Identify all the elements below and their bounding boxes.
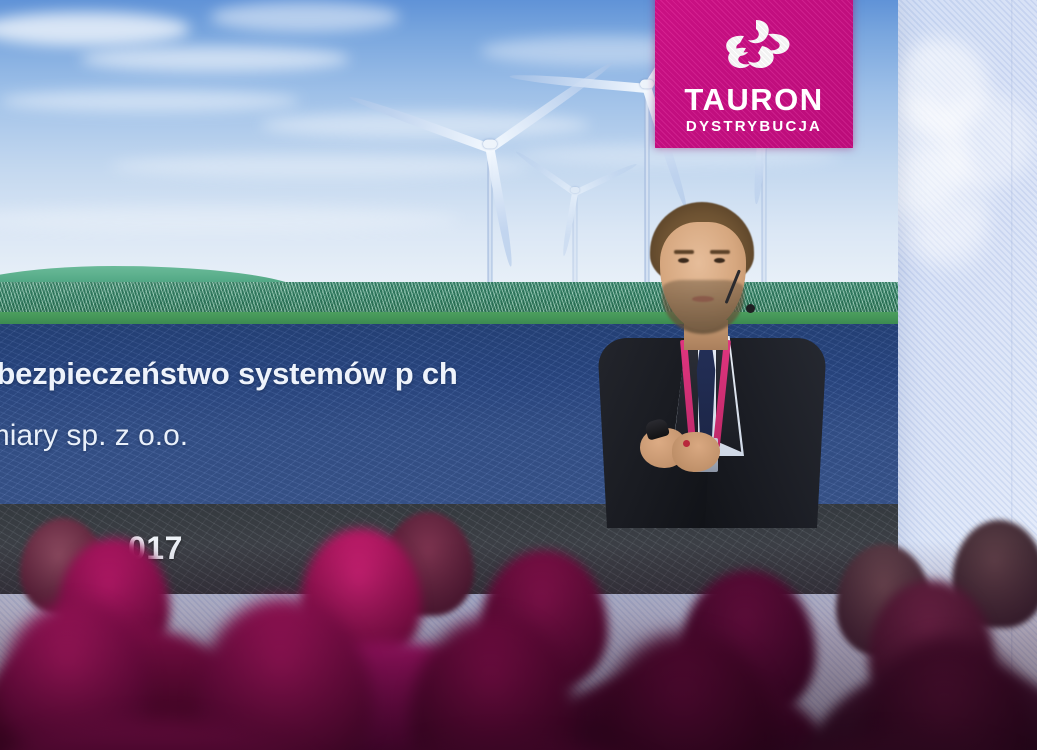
eye-left	[678, 258, 689, 263]
cloud	[0, 206, 460, 232]
turbine-hub	[483, 140, 497, 149]
bokeh-light	[916, 200, 988, 272]
eyebrow-right	[710, 250, 730, 254]
cloud	[0, 12, 190, 46]
tauron-logo: TAURON DYSTRYBUCJA	[655, 0, 853, 148]
audience-foreground	[0, 420, 1037, 750]
eye-right	[714, 258, 725, 263]
turbine-hub	[640, 80, 654, 89]
cloud	[210, 2, 400, 32]
microphone-capsule	[746, 304, 755, 313]
cloud	[110, 154, 530, 178]
eyebrow-left	[674, 250, 694, 254]
tauron-sub-wordmark: DYSTRYBUCJA	[686, 119, 822, 134]
cloud	[80, 46, 350, 72]
tauron-ribbon-mark-icon	[706, 18, 802, 80]
cloud	[0, 90, 300, 112]
turbine-hub	[571, 187, 580, 193]
tauron-wordmark: TAURON	[684, 84, 823, 115]
conference-photo: rowe, bezpieczeństwo systemów p ch yb Po…	[0, 0, 1037, 750]
mouth	[692, 296, 714, 302]
